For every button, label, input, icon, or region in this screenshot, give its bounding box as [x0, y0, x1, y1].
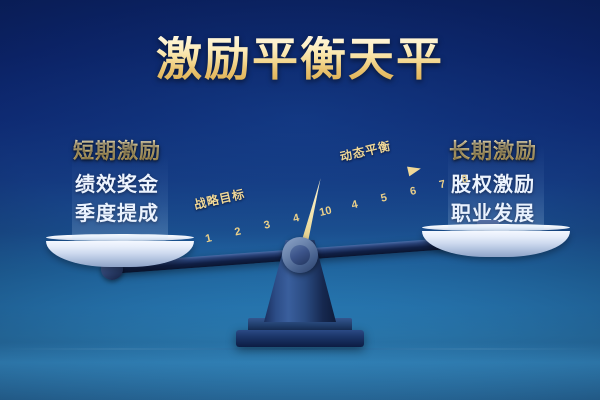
tick-number-5: 4 [350, 198, 360, 211]
right-balance-pan [422, 224, 570, 257]
tick-number-3: 4 [292, 212, 302, 225]
poster-canvas: 激励平衡天平 短期激励 绩效奖金 季度提成 长期激励 股权激励 职业发展 [0, 0, 600, 400]
tick-number-1: 2 [233, 225, 242, 238]
tick-number-4: 10 [318, 204, 333, 218]
left-balance-pan [46, 234, 194, 267]
right-pan-cargo [448, 145, 544, 231]
tick-number-7: 6 [409, 185, 418, 198]
right-pan-dish [422, 231, 570, 257]
tick-number-6: 5 [380, 192, 389, 205]
tick-number-2: 3 [263, 219, 272, 232]
base-plinth-lower [236, 330, 364, 347]
tick-number-8: 7 [438, 178, 447, 191]
left-pan-cargo [72, 155, 168, 241]
left-pan-dish [46, 241, 194, 267]
pivot-hub-core [290, 245, 310, 265]
tick-number-0: 1 [204, 232, 213, 245]
